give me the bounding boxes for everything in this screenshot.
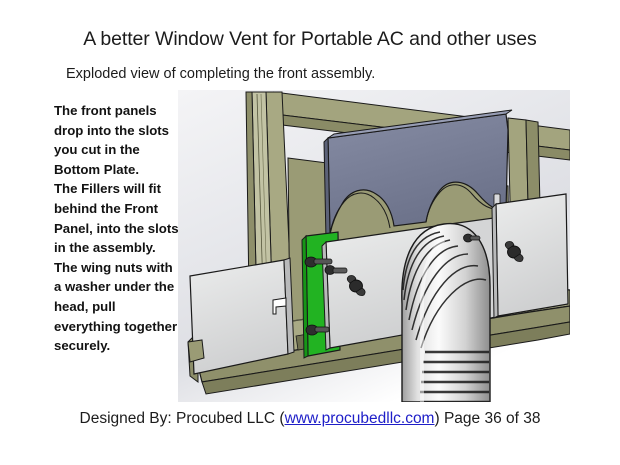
slide-subtitle: Exploded view of completing the front as… bbox=[66, 66, 375, 82]
slide-footer: Designed By: Procubed LLC (www.procubedl… bbox=[0, 410, 620, 428]
footer-prefix: Designed By: Procubed LLC ( bbox=[80, 410, 285, 427]
presentation-slide: A better Window Vent for Portable AC and… bbox=[0, 0, 620, 465]
front-panel-left bbox=[190, 258, 294, 374]
cad-exploded-view-image bbox=[178, 90, 570, 402]
instruction-paragraph-3: The wing nuts with a washer under the he… bbox=[54, 258, 182, 356]
front-panel-right bbox=[492, 194, 568, 318]
page-title: A better Window Vent for Portable AC and… bbox=[0, 28, 620, 51]
bottom-plate-end-cap bbox=[188, 340, 204, 362]
instruction-paragraph-1: The front panels drop into the slots you… bbox=[54, 101, 182, 179]
instruction-paragraph-2: The Fillers will fit behind the Front Pa… bbox=[54, 179, 182, 257]
footer-suffix: ) Page 36 of 38 bbox=[434, 410, 540, 427]
procubed-website-link[interactable]: www.procubedllc.com bbox=[285, 410, 435, 427]
instruction-text-block: The front panels drop into the slots you… bbox=[54, 101, 182, 356]
flexible-duct-hose bbox=[402, 224, 490, 402]
